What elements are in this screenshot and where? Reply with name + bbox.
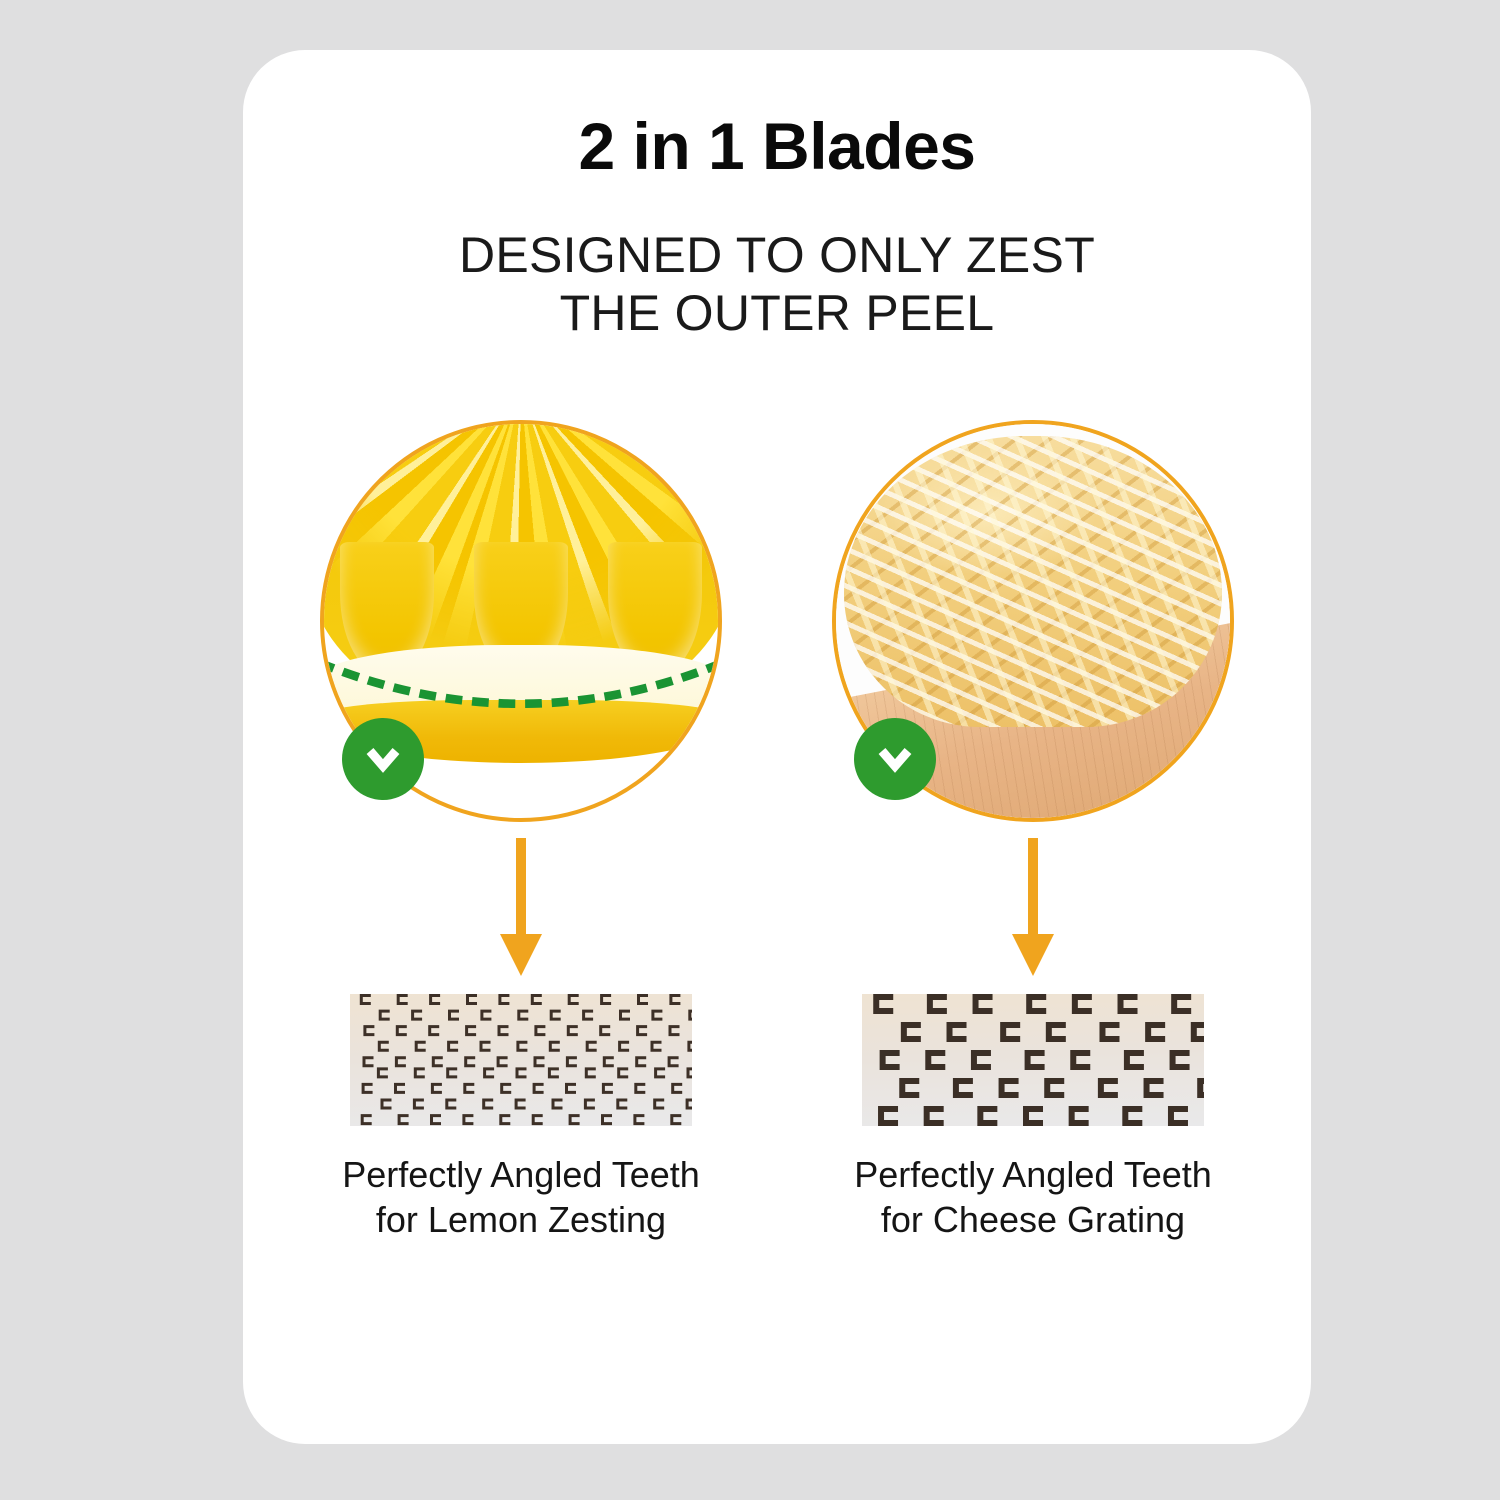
coarse-grater-teeth-strip — [862, 994, 1204, 1126]
subtitle-line-1: DESIGNED TO ONLY ZEST — [243, 226, 1311, 284]
subtitle-line-2: THE OUTER PEEL — [243, 284, 1311, 342]
lemon-check-badge — [342, 718, 424, 800]
fine-teeth-pattern-icon — [350, 994, 692, 1126]
cheese-arrow-zone — [1006, 822, 1060, 994]
feature-column-cheese: Perfectly Angled Teeth for Cheese Gratin… — [833, 420, 1233, 1243]
product-feature-card: 2 in 1 Blades DESIGNED TO ONLY ZEST THE … — [243, 50, 1311, 1444]
arrow-down-icon — [1006, 838, 1060, 978]
lemon-caption-line-2: for Lemon Zesting — [342, 1197, 700, 1242]
page-subtitle: DESIGNED TO ONLY ZEST THE OUTER PEEL — [243, 226, 1311, 342]
infographic-stage: 2 in 1 Blades DESIGNED TO ONLY ZEST THE … — [0, 0, 1500, 1500]
lemon-photo-wrap — [320, 420, 722, 822]
shredded-cheese-pile — [844, 436, 1222, 728]
coarse-teeth-pattern-icon — [862, 994, 1204, 1126]
cheese-check-badge — [854, 718, 936, 800]
arrow-down-icon — [494, 838, 548, 978]
cheese-caption-line-1: Perfectly Angled Teeth — [854, 1152, 1212, 1197]
cheese-caption-line-2: for Cheese Grating — [854, 1197, 1212, 1242]
chevron-down-icon — [873, 737, 917, 781]
lemon-caption: Perfectly Angled Teeth for Lemon Zesting — [342, 1152, 700, 1243]
cheese-caption: Perfectly Angled Teeth for Cheese Gratin… — [854, 1152, 1212, 1243]
page-title: 2 in 1 Blades — [243, 112, 1311, 181]
lemon-caption-line-1: Perfectly Angled Teeth — [342, 1152, 700, 1197]
feature-column-lemon: Perfectly Angled Teeth for Lemon Zesting — [321, 420, 721, 1243]
lemon-arrow-zone — [494, 822, 548, 994]
fine-grater-teeth-strip — [350, 994, 692, 1126]
chevron-down-icon — [361, 737, 405, 781]
cheese-photo-wrap — [832, 420, 1234, 822]
feature-columns: Perfectly Angled Teeth for Lemon Zesting — [243, 420, 1311, 1243]
